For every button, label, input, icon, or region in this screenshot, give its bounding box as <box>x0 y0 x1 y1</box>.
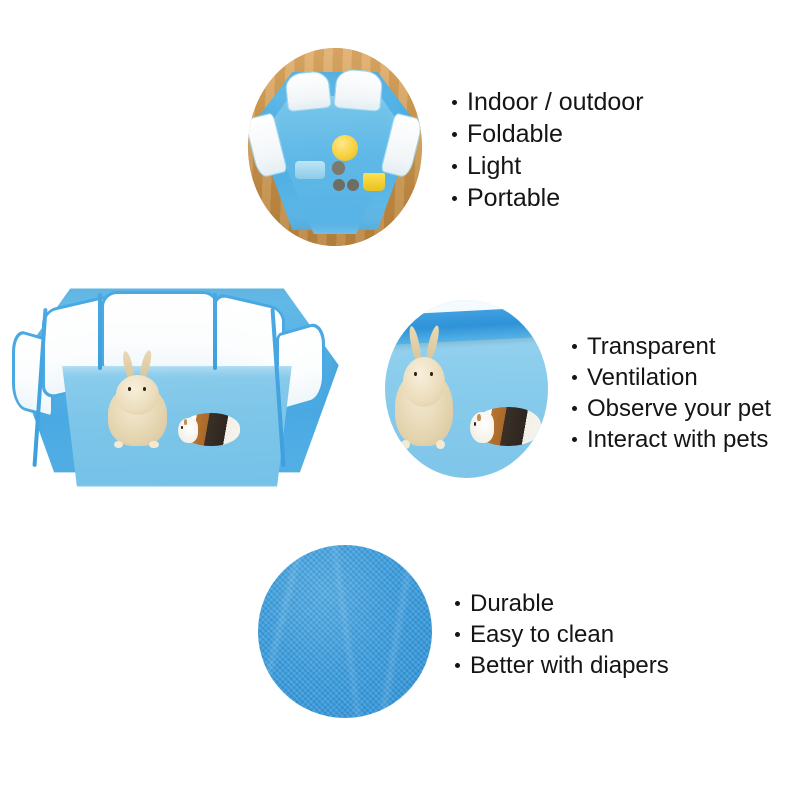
bullet-icon <box>455 632 460 637</box>
playpen-body <box>12 278 342 493</box>
fabric-fold <box>331 545 363 718</box>
playpen-product-photo <box>12 278 342 493</box>
rabbit-head <box>116 375 159 414</box>
feature-label: Light <box>467 150 521 182</box>
toy-pebble-icon <box>332 161 346 175</box>
rabbit-foot <box>149 441 159 448</box>
bullet-icon <box>455 663 460 668</box>
rabbit-closeup <box>395 343 454 446</box>
feature-item: Light <box>452 150 644 182</box>
feature-item: Interact with pets <box>572 424 771 455</box>
bullet-icon <box>452 100 457 105</box>
feature-item: Foldable <box>452 118 644 150</box>
top-view-playpen-photo <box>248 48 422 246</box>
feature-item: Ventilation <box>572 362 771 393</box>
rabbit-head <box>403 357 445 407</box>
toy-block-icon <box>295 161 325 179</box>
feature-list-top: Indoor / outdoor Foldable Light Portable <box>452 86 644 214</box>
rabbit-foot <box>401 440 410 449</box>
feature-item: Portable <box>452 182 644 214</box>
fabric-fold <box>376 545 416 718</box>
guinea-pig-eye <box>181 426 183 429</box>
rabbit-eye <box>128 387 131 391</box>
feature-item: Better with diapers <box>455 650 669 681</box>
rabbit-eye <box>414 372 417 376</box>
feature-item: Easy to clean <box>455 619 669 650</box>
frame-rib <box>213 293 217 370</box>
rabbit-foot <box>436 440 445 449</box>
feature-label: Transparent <box>587 331 716 362</box>
toy-pebble-icon <box>347 179 359 191</box>
bullet-icon <box>452 196 457 201</box>
feature-list-middle: Transparent Ventilation Observe your pet… <box>572 331 771 455</box>
feature-label: Foldable <box>467 118 563 150</box>
toy-bowl-icon <box>363 173 386 191</box>
fabric-fold <box>258 545 305 718</box>
feature-item: Indoor / outdoor <box>452 86 644 118</box>
feature-label: Interact with pets <box>587 424 768 455</box>
rabbit-eye <box>143 387 146 391</box>
feature-item: Observe your pet <box>572 393 771 424</box>
bullet-icon <box>572 406 577 411</box>
feature-item: Transparent <box>572 331 771 362</box>
guinea-pig-photo <box>180 413 239 445</box>
pets-closeup-photo <box>385 300 548 478</box>
rabbit-eye <box>430 372 433 376</box>
bullet-icon <box>455 601 460 606</box>
toy-pebble-icon <box>333 179 345 191</box>
feature-label: Better with diapers <box>470 650 669 681</box>
guinea-pig-closeup <box>473 407 541 446</box>
guinea-pig-eye <box>474 422 476 426</box>
guinea-pig-ear <box>477 414 481 421</box>
mesh-panel <box>333 68 384 112</box>
feature-label: Portable <box>467 182 560 214</box>
playpen-floor <box>55 366 299 486</box>
feature-label: Easy to clean <box>470 619 614 650</box>
guinea-pig-head <box>178 418 198 443</box>
toy-ball-icon <box>332 135 358 161</box>
feature-label: Ventilation <box>587 362 698 393</box>
guinea-pig-head <box>470 412 493 443</box>
bullet-icon <box>452 164 457 169</box>
feature-list-bottom: Durable Easy to clean Better with diaper… <box>455 588 669 681</box>
mesh-panel <box>284 70 331 112</box>
rabbit-photo <box>108 364 167 446</box>
bullet-icon <box>572 344 577 349</box>
feature-label: Observe your pet <box>587 393 771 424</box>
bullet-icon <box>572 375 577 380</box>
bullet-icon <box>572 437 577 442</box>
feature-item: Durable <box>455 588 669 619</box>
feature-label: Durable <box>470 588 554 619</box>
guinea-pig-ear <box>184 419 187 425</box>
bullet-icon <box>452 132 457 137</box>
frame-rib <box>98 293 102 370</box>
fabric-texture-photo <box>258 545 432 718</box>
feature-label: Indoor / outdoor <box>467 86 644 118</box>
